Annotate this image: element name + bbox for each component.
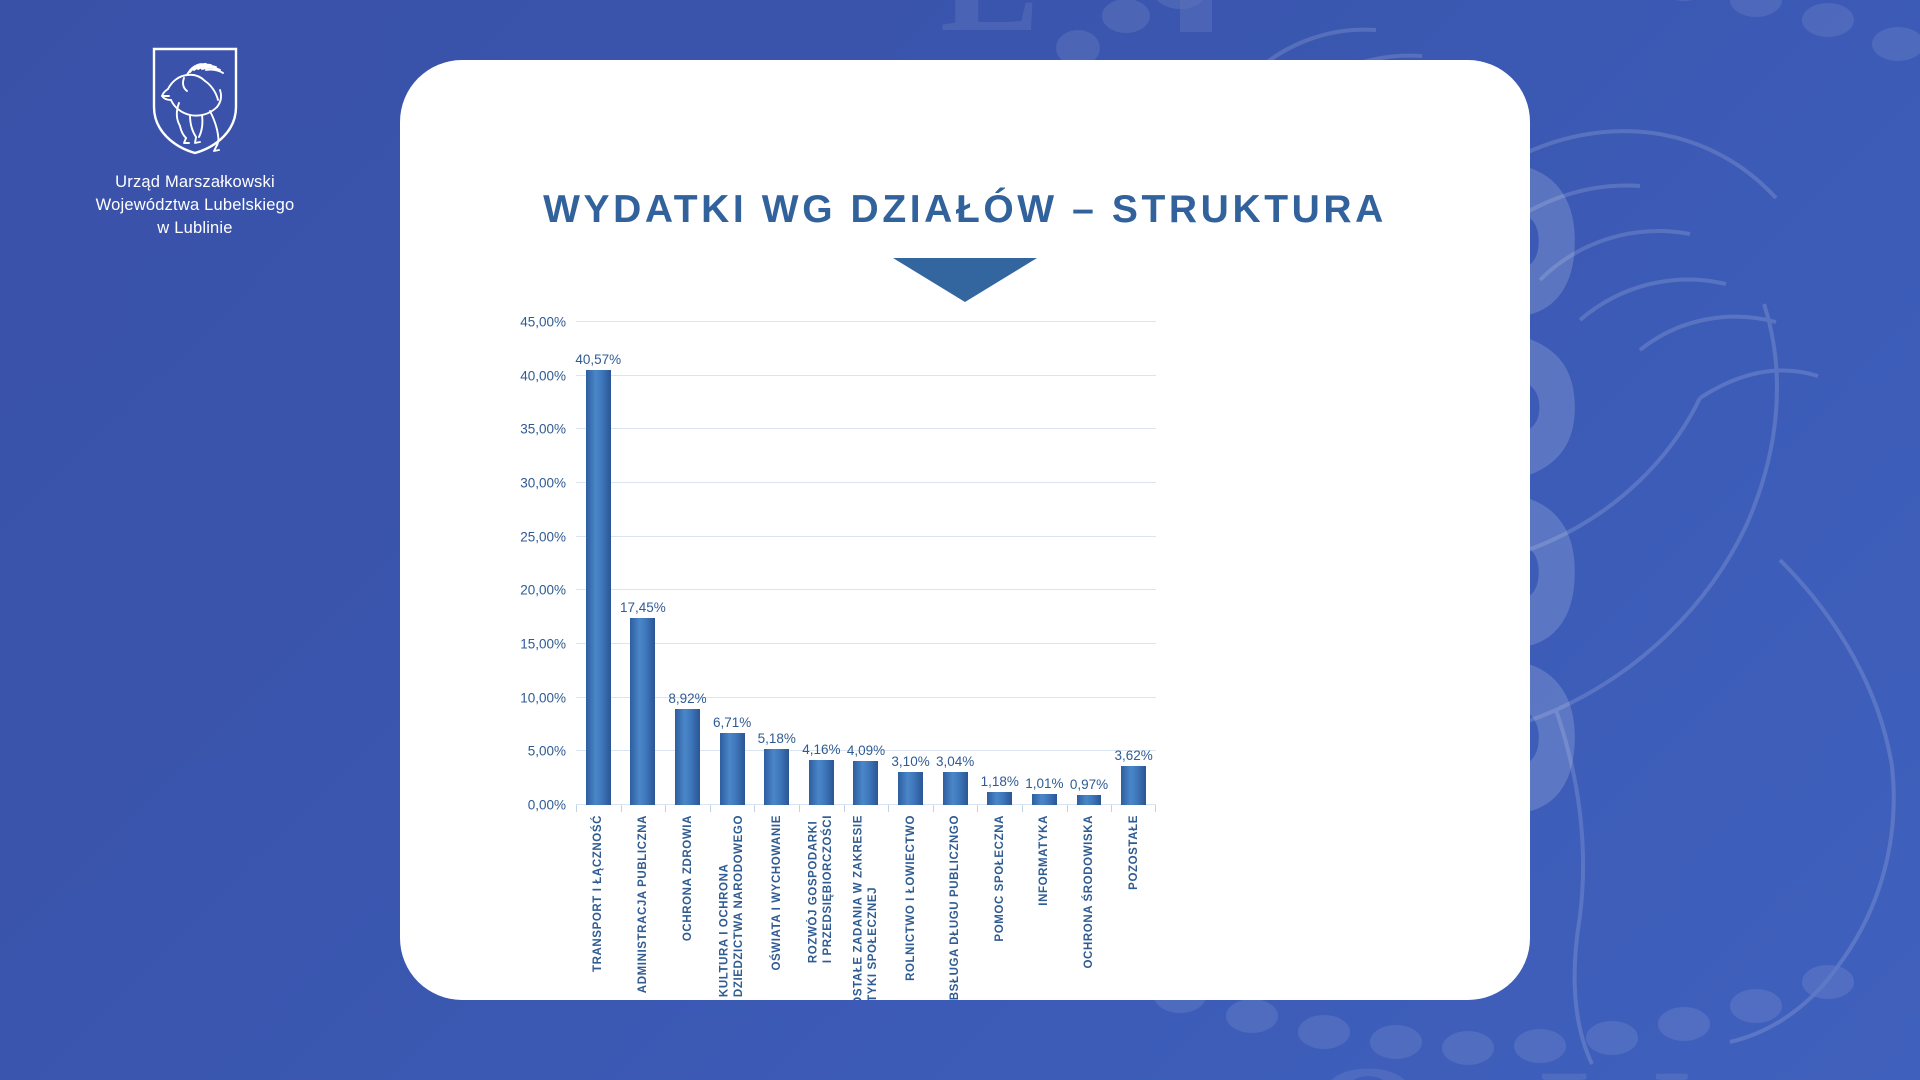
bar[interactable]: 3,62% — [1121, 766, 1146, 805]
x-axis-category-text: ROZWÓJ GOSPODARKI I PRZEDSIĘBIORCZOŚCI — [807, 815, 836, 963]
bar-slot: 3,62%POZOSTAŁE — [1111, 322, 1156, 805]
x-axis-category-label: TRANSPORT I ŁĄCZNOŚĆ — [591, 815, 605, 1000]
bar-value-label: 40,57% — [575, 352, 621, 367]
x-axis-category-label: OCHRONA ZDROWIA — [680, 815, 694, 1000]
x-axis-tick — [665, 805, 666, 812]
expenditure-bar-chart: 0,00%5,00%10,00%15,00%20,00%25,00%30,00%… — [496, 250, 1436, 950]
x-axis-tick — [576, 805, 577, 812]
x-axis-category-label: ROLNICTWO I ŁOWIECTWO — [903, 815, 917, 1000]
bar-value-label: 3,04% — [936, 754, 974, 769]
bar-series: 40,57%TRANSPORT I ŁĄCZNOŚĆ17,45%ADMINIST… — [576, 322, 1156, 805]
x-axis-category-text: POMOC SPOŁECZNA — [993, 815, 1007, 942]
x-axis-category-label: OŚWIATA I WYCHOWANIE — [770, 815, 784, 1000]
x-axis-tick — [710, 805, 711, 812]
x-axis-tick — [933, 805, 934, 812]
organisation-name: Urząd Marszałkowski Województwa Lubelski… — [80, 171, 310, 239]
x-axis-category-label: POMOC SPOŁECZNA — [993, 815, 1007, 1000]
bar[interactable]: 8,92% — [675, 709, 700, 805]
x-axis-tick — [844, 805, 845, 812]
bar[interactable]: 1,18% — [987, 792, 1012, 805]
bar[interactable]: 5,18% — [764, 749, 789, 805]
svg-text:O: O — [1310, 1035, 1427, 1080]
bar-slot: 40,57%TRANSPORT I ŁĄCZNOŚĆ — [576, 322, 621, 805]
x-axis-tick — [1155, 805, 1156, 812]
bar[interactable]: 40,57% — [586, 370, 611, 805]
x-axis-tick — [754, 805, 755, 812]
y-axis-tick-label: 20,00% — [520, 583, 566, 598]
x-axis-category-text: OCHRONA ŚRODOWISKA — [1082, 815, 1096, 968]
organisation-logo-block: Urząd Marszałkowski Województwa Lubelski… — [80, 45, 310, 239]
x-axis-category-text: ROLNICTWO I ŁOWIECTWO — [903, 815, 917, 981]
x-axis-tick — [799, 805, 800, 812]
x-axis-tick — [1111, 805, 1112, 812]
bar-value-label: 4,09% — [847, 743, 885, 758]
y-axis-tick-label: 5,00% — [528, 744, 566, 759]
page-title: WYDATKI WG DZIAŁÓW – STRUKTURA — [400, 188, 1530, 232]
chart-plot-area: 0,00%5,00%10,00%15,00%20,00%25,00%30,00%… — [576, 322, 1156, 805]
bar-value-label: 5,18% — [758, 731, 796, 746]
x-axis-category-label: ROZWÓJ GOSPODARKI I PRZEDSIĘBIORCZOŚCI — [807, 815, 836, 1000]
bar-value-label: 1,01% — [1025, 776, 1063, 791]
bar-value-label: 3,10% — [891, 754, 929, 769]
bar-slot: 1,01%INFORMATYKA — [1022, 322, 1067, 805]
x-axis-category-label: KULTURA I OCHRONA DZIEDZICTWA NARODOWEGO — [718, 815, 747, 1000]
x-axis-category-text: INFORMATYKA — [1037, 815, 1051, 906]
bar-slot: 4,09%POZOSTAŁE ZADANIA W ZAKRESIE POLITY… — [844, 322, 889, 805]
x-axis-category-label: INFORMATYKA — [1037, 815, 1051, 1000]
bar[interactable]: 1,01% — [1032, 794, 1057, 805]
bar-slot: 5,18%OŚWIATA I WYCHOWANIE — [754, 322, 799, 805]
bar-slot: 1,18%POMOC SPOŁECZNA — [977, 322, 1022, 805]
x-axis-category-label: POZOSTAŁE ZADANIA W ZAKRESIE POLITYKI SP… — [852, 815, 881, 1000]
x-axis-tick — [977, 805, 978, 812]
bar-value-label: 3,62% — [1114, 748, 1152, 763]
bar-value-label: 6,71% — [713, 715, 751, 730]
bar-slot: 4,16%ROZWÓJ GOSPODARKI I PRZEDSIĘBIORCZO… — [799, 322, 844, 805]
bar[interactable]: 3,10% — [898, 772, 923, 805]
x-axis-tick — [888, 805, 889, 812]
x-axis-category-text: OBSŁUGA DŁUGU PUBLICZNGO — [948, 815, 962, 1000]
bar[interactable]: 17,45% — [630, 618, 655, 805]
bar-value-label: 8,92% — [668, 691, 706, 706]
content-card: WYDATKI WG DZIAŁÓW – STRUKTURA 0,00%5,00… — [400, 60, 1530, 1000]
bar-slot: 0,97%OCHRONA ŚRODOWISKA — [1067, 322, 1112, 805]
y-axis-tick-label: 35,00% — [520, 422, 566, 437]
bar-slot: 17,45%ADMINISTRACJA PUBLICZNA — [621, 322, 666, 805]
x-axis-category-label: POZOSTAŁE — [1126, 815, 1140, 1000]
bar[interactable]: 6,71% — [720, 733, 745, 805]
x-axis-category-text: KULTURA I OCHRONA DZIEDZICTWA NARODOWEGO — [718, 815, 747, 997]
x-axis-tick — [1022, 805, 1023, 812]
x-axis-category-text: ADMINISTRACJA PUBLICZNA — [636, 815, 650, 993]
x-axis-category-text: OŚWIATA I WYCHOWANIE — [770, 815, 784, 971]
x-axis-category-text: OCHRONA ZDROWIA — [680, 815, 694, 941]
bar-slot: 3,10%ROLNICTWO I ŁOWIECTWO — [888, 322, 933, 805]
x-axis-category-label: OCHRONA ŚRODOWISKA — [1082, 815, 1096, 1000]
bar-value-label: 17,45% — [620, 600, 666, 615]
bar[interactable]: 4,09% — [853, 761, 878, 805]
bar[interactable]: 4,16% — [809, 760, 834, 805]
x-axis-tick — [621, 805, 622, 812]
y-axis-tick-label: 40,00% — [520, 368, 566, 383]
y-axis-tick-label: 15,00% — [520, 637, 566, 652]
y-axis-tick-label: 45,00% — [520, 315, 566, 330]
svg-text:E: E — [940, 0, 1040, 63]
slide-root: E O W 2022 — [0, 0, 1920, 1080]
x-axis-category-label: ADMINISTRACJA PUBLICZNA — [636, 815, 650, 1000]
bar[interactable]: 0,97% — [1077, 795, 1102, 805]
lublin-coat-of-arms-shield-stag-icon — [150, 45, 240, 157]
y-axis-tick-label: 30,00% — [520, 476, 566, 491]
y-axis-tick-label: 10,00% — [520, 690, 566, 705]
x-axis-category-text: TRANSPORT I ŁĄCZNOŚĆ — [591, 815, 605, 972]
x-axis-tick — [1067, 805, 1068, 812]
x-axis-category-text: POZOSTAŁE ZADANIA W ZAKRESIE POLITYKI SP… — [852, 815, 881, 1000]
bar-slot: 8,92%OCHRONA ZDROWIA — [665, 322, 710, 805]
bar-slot: 6,71%KULTURA I OCHRONA DZIEDZICTWA NAROD… — [710, 322, 755, 805]
x-axis-category-label: OBSŁUGA DŁUGU PUBLICZNGO — [948, 815, 962, 1000]
y-axis-tick-label: 0,00% — [528, 798, 566, 813]
bar-value-label: 4,16% — [802, 742, 840, 757]
svg-text:W: W — [1540, 1039, 1690, 1080]
bar-value-label: 1,18% — [981, 774, 1019, 789]
bar-slot: 3,04%OBSŁUGA DŁUGU PUBLICZNGO — [933, 322, 978, 805]
bar-value-label: 0,97% — [1070, 777, 1108, 792]
bar[interactable]: 3,04% — [943, 772, 968, 805]
x-axis-category-text: POZOSTAŁE — [1126, 815, 1140, 890]
y-axis-tick-label: 25,00% — [520, 529, 566, 544]
